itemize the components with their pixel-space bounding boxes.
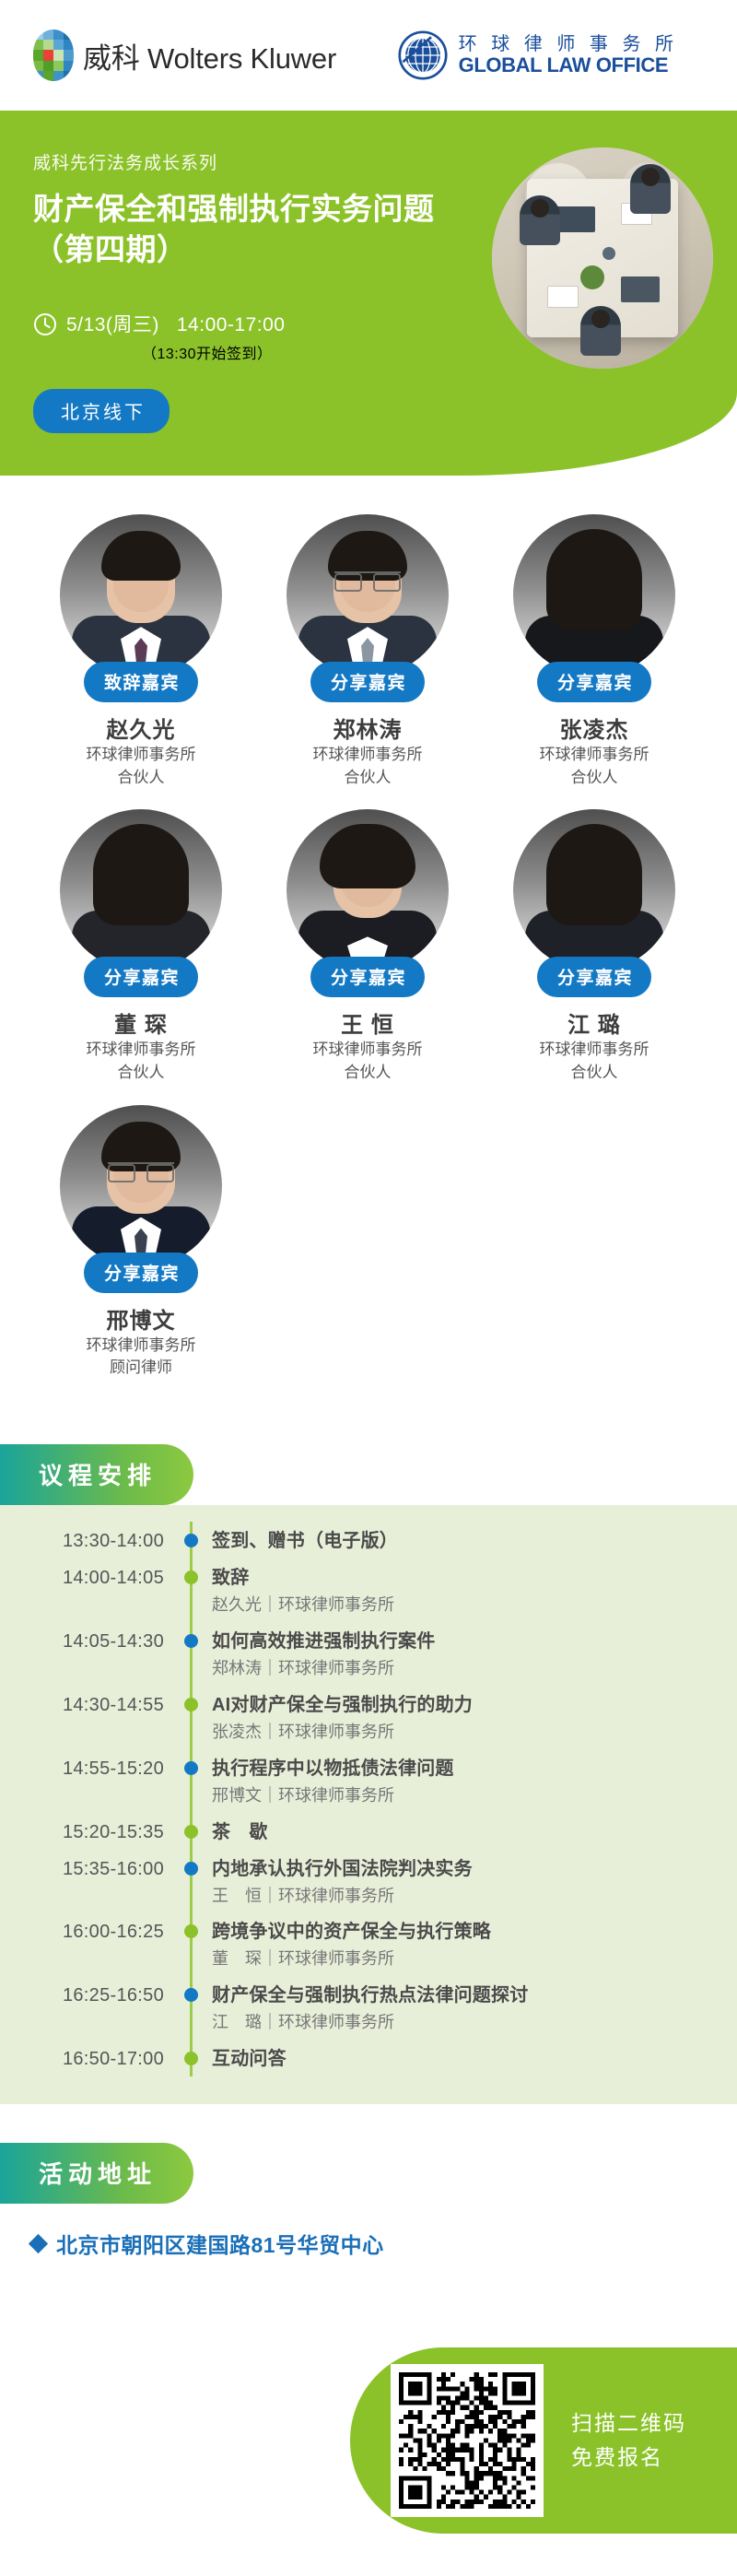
avatar (287, 809, 449, 971)
agenda-section: 议程安排 13:30-14:00签到、赠书（电子版）14:00-14:05致辞赵… (0, 1444, 737, 2104)
wolters-kluwer-logo-icon (33, 29, 74, 81)
agenda-item: 14:30-14:55AI对财产保全与强制执行的助力张凌杰｜环球律师事务所 (26, 1686, 711, 1749)
agenda-bullet-icon (184, 1570, 198, 1584)
avatar (513, 809, 675, 971)
speaker-org: 环球律师事务所 (28, 1335, 254, 1358)
agenda-bullet-icon (184, 1825, 198, 1839)
event-date-time: 5/13(周三) 14:00-17:00 (66, 310, 285, 337)
agenda-item-title: 茶 歇 (212, 1818, 711, 1846)
speaker-name: 张凌杰 (481, 712, 708, 744)
agenda-item: 16:00-16:25跨境争议中的资产保全与执行策略董 琛｜环球律师事务所 (26, 1912, 711, 1976)
status-badge: 分享嘉宾 (310, 662, 425, 702)
address-section: 活动地址 北京市朝阳区建国路81号华贸中心 (0, 2143, 737, 2259)
agenda-item-text: 执行程序中以物抵债法律问题邢博文｜环球律师事务所 (208, 1755, 711, 1809)
agenda-dot-column (173, 1691, 208, 1711)
status-badge: 致辞嘉宾 (84, 662, 198, 702)
event-time: 14:00-17:00 (177, 314, 286, 335)
agenda-item-text: 跨境争议中的资产保全与执行策略董 琛｜环球律师事务所 (208, 1918, 711, 1972)
footer: 扫描二维码 免费报名 (0, 2347, 737, 2552)
status-badge-mode: 北京线下 (33, 389, 170, 433)
agenda-dot-column (173, 1628, 208, 1648)
speaker-row-3: 分享嘉宾 邢博文 环球律师事务所 顾问律师 (28, 1105, 709, 1380)
speaker-role: 合伙人 (254, 1062, 481, 1085)
speaker-name: 邢博文 (28, 1302, 254, 1335)
speakers-section: 致辞嘉宾 赵久光 环球律师事务所 合伙人 分享嘉宾 郑林涛 环球律师事务所 合伙… (0, 476, 737, 1409)
agenda-bullet-icon (184, 1634, 198, 1648)
agenda-dot-column (173, 1755, 208, 1775)
status-badge: 分享嘉宾 (537, 662, 651, 702)
agenda-dot-column (173, 1527, 208, 1547)
agenda-item-title: 跨境争议中的资产保全与执行策略 (212, 1918, 711, 1946)
speaker-role: 合伙人 (254, 767, 481, 790)
speaker-org: 环球律师事务所 (481, 744, 708, 767)
wolters-kluwer-logo: 威科 Wolters Kluwer (33, 29, 336, 81)
status-badge: 分享嘉宾 (84, 957, 198, 997)
event-poster: 威科 Wolters Kluwer 环 球 律 师 事 务 所 GLOBAL L… (0, 0, 737, 2576)
hero-photo (492, 147, 713, 369)
address-line: 北京市朝阳区建国路81号华贸中心 (0, 2204, 737, 2259)
agenda-bullet-icon (184, 1862, 198, 1876)
agenda-bullet-icon (184, 1534, 198, 1547)
agenda-item-time: 16:25-16:50 (26, 1982, 173, 2009)
agenda-item-speaker: 张凌杰｜环球律师事务所 (212, 1720, 711, 1746)
agenda-item-title: 致辞 (212, 1564, 711, 1592)
agenda-item-speaker: 邢博文｜环球律师事务所 (212, 1783, 711, 1809)
address-section-title: 活动地址 (0, 2143, 193, 2204)
agenda-bullet-icon (184, 1988, 198, 2002)
agenda-item-time: 14:00-14:05 (26, 1564, 173, 1592)
agenda-item: 13:30-14:00签到、赠书（电子版） (26, 1522, 711, 1559)
speaker-name: 郑林涛 (254, 712, 481, 744)
avatar (60, 809, 222, 971)
agenda-item-speaker: 王 恒｜环球律师事务所 (212, 1884, 711, 1910)
agenda-item-title: 执行程序中以物抵债法律问题 (212, 1755, 711, 1782)
agenda-bullet-icon (184, 1761, 198, 1775)
agenda-item-speaker: 赵久光｜环球律师事务所 (212, 1593, 711, 1618)
agenda-item-speaker: 董 琛｜环球律师事务所 (212, 1947, 711, 1972)
speaker-card[interactable]: 分享嘉宾 张凌杰 环球律师事务所 合伙人 (481, 514, 708, 789)
agenda-item-title: 财产保全与强制执行热点法律问题探讨 (212, 1982, 711, 2009)
status-badge: 分享嘉宾 (537, 957, 651, 997)
agenda-item-title: 互动问答 (212, 2045, 711, 2073)
agenda-list: 13:30-14:00签到、赠书（电子版）14:00-14:05致辞赵久光｜环球… (26, 1522, 711, 2076)
speaker-name: 董 琛 (28, 1006, 254, 1039)
speaker-card[interactable]: 分享嘉宾 江 璐 环球律师事务所 合伙人 (481, 809, 708, 1084)
registration-cta: 扫描二维码 免费报名 (571, 2406, 686, 2475)
speaker-card[interactable]: 分享嘉宾 郑林涛 环球律师事务所 合伙人 (254, 514, 481, 789)
agenda-bullet-icon (184, 1698, 198, 1711)
agenda-dot-column (173, 2045, 208, 2065)
agenda-item-speaker: 郑林涛｜环球律师事务所 (212, 1656, 711, 1682)
speaker-card[interactable]: 致辞嘉宾 赵久光 环球律师事务所 合伙人 (28, 514, 254, 789)
agenda-bullet-icon (184, 1924, 198, 1938)
speaker-row-2: 分享嘉宾 董 琛 环球律师事务所 合伙人 分享嘉宾 王 恒 环球律师事务所 合伙… (28, 809, 709, 1084)
agenda-item: 16:25-16:50财产保全与强制执行热点法律问题探讨江 璐｜环球律师事务所 (26, 1976, 711, 2040)
global-law-office-wordmark: 环 球 律 师 事 务 所 GLOBAL LAW OFFICE (459, 35, 678, 76)
agenda-item: 14:00-14:05致辞赵久光｜环球律师事务所 (26, 1559, 711, 1622)
agenda-item-text: 致辞赵久光｜环球律师事务所 (208, 1564, 711, 1618)
agenda-body: 13:30-14:00签到、赠书（电子版）14:00-14:05致辞赵久光｜环球… (0, 1505, 737, 2104)
speaker-org: 环球律师事务所 (254, 744, 481, 767)
agenda-item-time: 14:55-15:20 (26, 1755, 173, 1782)
wolters-kluwer-wordmark: 威科 Wolters Kluwer (83, 35, 336, 76)
status-badge: 分享嘉宾 (310, 957, 425, 997)
agenda-item-title: 签到、赠书（电子版） (212, 1527, 711, 1555)
speaker-org: 环球律师事务所 (254, 1039, 481, 1062)
speaker-card[interactable]: 分享嘉宾 邢博文 环球律师事务所 顾问律师 (28, 1105, 254, 1380)
global-law-office-cn: 环 球 律 师 事 务 所 (459, 34, 678, 54)
speaker-name: 赵久光 (28, 712, 254, 744)
agenda-dot-column (173, 1918, 208, 1938)
registration-band: 扫描二维码 免费报名 (350, 2347, 737, 2534)
agenda-item: 15:20-15:35茶 歇 (26, 1813, 711, 1850)
agenda-item-text: 互动问答 (208, 2045, 711, 2073)
agenda-item-time: 15:20-15:35 (26, 1818, 173, 1846)
address-text: 北京市朝阳区建国路81号华贸中心 (56, 2228, 384, 2259)
agenda-bullet-icon (184, 2052, 198, 2065)
agenda-section-title: 议程安排 (0, 1444, 193, 1505)
agenda-item-time: 16:00-16:25 (26, 1918, 173, 1946)
agenda-item-title: 内地承认执行外国法院判决实务 (212, 1855, 711, 1883)
agenda-item-time: 13:30-14:00 (26, 1527, 173, 1555)
speaker-org: 环球律师事务所 (481, 1039, 708, 1062)
agenda-dot-column (173, 1818, 208, 1839)
agenda-item: 14:55-15:20执行程序中以物抵债法律问题邢博文｜环球律师事务所 (26, 1749, 711, 1813)
agenda-item-text: 如何高效推进强制执行案件郑林涛｜环球律师事务所 (208, 1628, 711, 1682)
agenda-item-time: 14:05-14:30 (26, 1628, 173, 1655)
qr-code-image (399, 2372, 535, 2509)
globe-icon (398, 30, 448, 80)
speaker-card[interactable]: 分享嘉宾 王 恒 环球律师事务所 合伙人 (254, 809, 481, 1084)
speaker-name: 王 恒 (254, 1006, 481, 1039)
agenda-item-title: AI对财产保全与强制执行的助力 (212, 1691, 711, 1719)
agenda-item: 15:35-16:00内地承认执行外国法院判决实务王 恒｜环球律师事务所 (26, 1850, 711, 1913)
agenda-item-title: 如何高效推进强制执行案件 (212, 1628, 711, 1655)
agenda-item-time: 16:50-17:00 (26, 2045, 173, 2073)
avatar (287, 514, 449, 676)
registration-cta-line2: 免费报名 (571, 2441, 686, 2475)
avatar (60, 1105, 222, 1267)
agenda-item-speaker: 江 璐｜环球律师事务所 (212, 2010, 711, 2036)
speaker-role: 合伙人 (481, 1062, 708, 1085)
speaker-role: 合伙人 (28, 1062, 254, 1085)
agenda-item-text: AI对财产保全与强制执行的助力张凌杰｜环球律师事务所 (208, 1691, 711, 1746)
agenda-dot-column (173, 1855, 208, 1876)
hero-banner: 威科先行法务成长系列 财产保全和强制执行实务问题 （第四期） 5/13(周三) … (0, 111, 737, 476)
speaker-role: 合伙人 (481, 767, 708, 790)
agenda-dot-column (173, 1564, 208, 1584)
agenda-dot-column (173, 1982, 208, 2002)
avatar (60, 514, 222, 676)
speaker-row-1: 致辞嘉宾 赵久光 环球律师事务所 合伙人 分享嘉宾 郑林涛 环球律师事务所 合伙… (28, 514, 709, 789)
speaker-name: 江 璐 (481, 1006, 708, 1039)
status-badge: 分享嘉宾 (84, 1253, 198, 1293)
global-law-office-en: GLOBAL LAW OFFICE (459, 53, 668, 76)
header: 威科 Wolters Kluwer 环 球 律 师 事 务 所 GLOBAL L… (0, 0, 737, 111)
agenda-item: 16:50-17:00互动问答 (26, 2040, 711, 2076)
diamond-marker-icon (29, 2234, 48, 2253)
speaker-role: 顾问律师 (28, 1357, 254, 1380)
speaker-role: 合伙人 (28, 767, 254, 790)
speaker-card[interactable]: 分享嘉宾 董 琛 环球律师事务所 合伙人 (28, 809, 254, 1084)
clock-icon (33, 312, 57, 336)
agenda-item-text: 财产保全与强制执行热点法律问题探讨江 璐｜环球律师事务所 (208, 1982, 711, 2036)
event-date: 5/13(周三) (66, 314, 159, 335)
registration-cta-line1: 扫描二维码 (571, 2406, 686, 2441)
speaker-org: 环球律师事务所 (28, 744, 254, 767)
agenda-item-text: 内地承认执行外国法院判决实务王 恒｜环球律师事务所 (208, 1855, 711, 1910)
agenda-item-text: 签到、赠书（电子版） (208, 1527, 711, 1555)
page-title: 财产保全和强制执行实务问题 （第四期） (33, 189, 494, 269)
speaker-org: 环球律师事务所 (28, 1039, 254, 1062)
agenda-item: 14:05-14:30如何高效推进强制执行案件郑林涛｜环球律师事务所 (26, 1622, 711, 1686)
global-law-office-logo: 环 球 律 师 事 务 所 GLOBAL LAW OFFICE (398, 30, 704, 80)
avatar (513, 514, 675, 676)
agenda-item-text: 茶 歇 (208, 1818, 711, 1846)
agenda-item-time: 15:35-16:00 (26, 1855, 173, 1883)
agenda-item-time: 14:30-14:55 (26, 1691, 173, 1719)
qr-code-icon[interactable] (391, 2364, 544, 2517)
